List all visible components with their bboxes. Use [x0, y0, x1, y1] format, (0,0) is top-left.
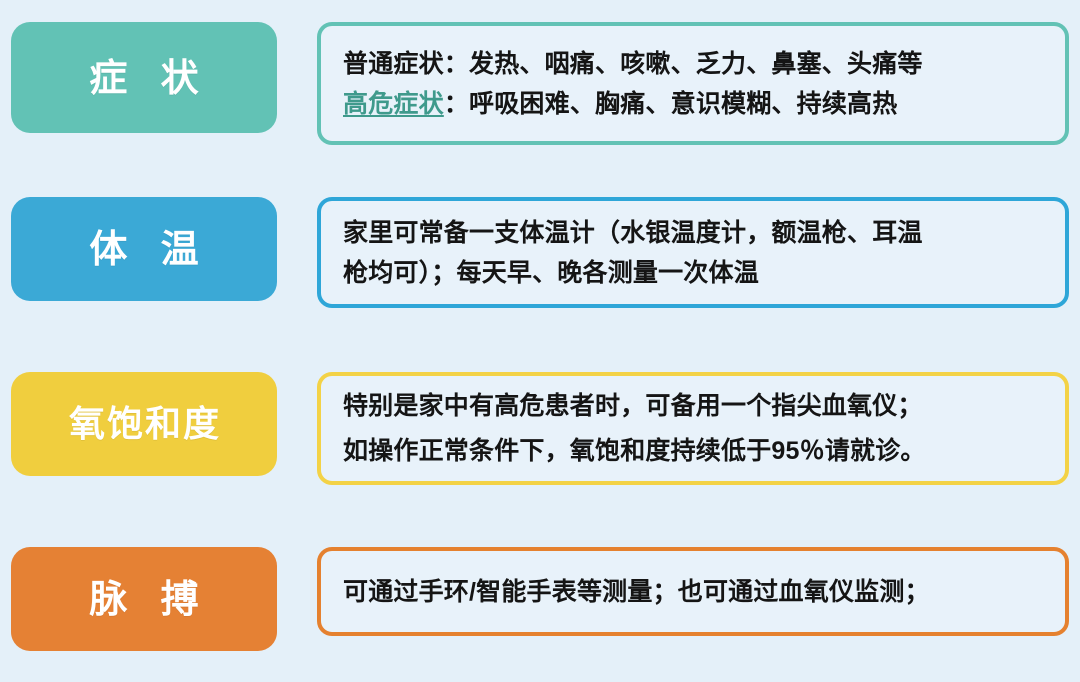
info-row-symptoms: 症 状 普通症状：发热、咽痛、咳嗽、乏力、鼻塞、头痛等 高危症状：呼吸困难、胸痛… — [0, 22, 1080, 162]
category-label: 氧饱和度 — [67, 406, 221, 442]
detail-line: 特别是家中有高危患者时，可备用一个指尖血氧仪； — [343, 384, 1045, 429]
category-pill-oxygen-saturation: 氧饱和度 — [11, 372, 277, 476]
info-row-oxygen-saturation: 氧饱和度 特别是家中有高危患者时，可备用一个指尖血氧仪； 如操作正常条件下，氧饱… — [0, 372, 1080, 504]
detail-card-pulse: 可通过手环/智能手表等测量；也可通过血氧仪监测； — [317, 547, 1069, 636]
detail-card-oxygen-saturation: 特别是家中有高危患者时，可备用一个指尖血氧仪； 如操作正常条件下，氧饱和度持续低… — [317, 372, 1069, 485]
category-label: 脉 搏 — [79, 580, 208, 618]
detail-card-body-temperature: 家里可常备一支体温计（水银温度计，额温枪、耳温 枪均可）；每天早、晚各测量一次体… — [317, 197, 1069, 308]
infographic-sheet: 症 状 普通症状：发热、咽痛、咳嗽、乏力、鼻塞、头痛等 高危症状：呼吸困难、胸痛… — [0, 0, 1080, 682]
category-pill-pulse: 脉 搏 — [11, 547, 277, 651]
category-pill-body-temperature: 体 温 — [11, 197, 277, 301]
detail-line: 如操作正常条件下，氧饱和度持续低于95％请就诊。 — [343, 429, 1045, 474]
category-label: 症 状 — [79, 59, 208, 97]
highlight-term: 高危症状 — [343, 90, 444, 118]
category-label: 体 温 — [79, 230, 208, 268]
detail-line: 普通症状：发热、咽痛、咳嗽、乏力、鼻塞、头痛等 — [343, 44, 1045, 84]
detail-line: 可通过手环/智能手表等测量；也可通过血氧仪监测； — [343, 575, 1045, 609]
info-row-body-temperature: 体 温 家里可常备一支体温计（水银温度计，额温枪、耳温 枪均可）；每天早、晚各测… — [0, 197, 1080, 329]
category-pill-symptoms: 症 状 — [11, 22, 277, 133]
detail-line: 高危症状：呼吸困难、胸痛、意识模糊、持续高热 — [343, 84, 1045, 124]
detail-line-rest: ：呼吸困难、胸痛、意识模糊、持续高热 — [444, 90, 898, 118]
detail-card-symptoms: 普通症状：发热、咽痛、咳嗽、乏力、鼻塞、头痛等 高危症状：呼吸困难、胸痛、意识模… — [317, 22, 1069, 145]
detail-line: 家里可常备一支体温计（水银温度计，额温枪、耳温 — [343, 213, 1045, 253]
info-row-pulse: 脉 搏 可通过手环/智能手表等测量；也可通过血氧仪监测； — [0, 547, 1080, 675]
detail-line: 枪均可）；每天早、晚各测量一次体温 — [343, 253, 1045, 293]
